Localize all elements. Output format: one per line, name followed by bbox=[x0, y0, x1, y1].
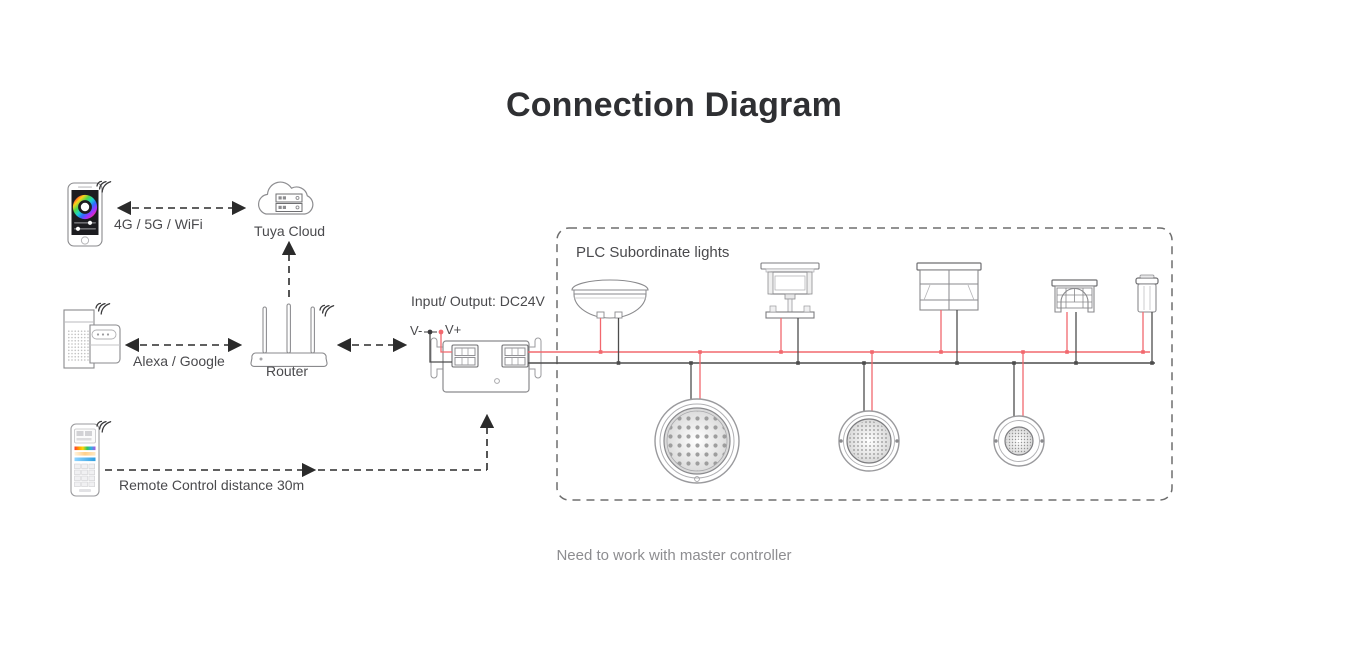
page-title: Connection Diagram bbox=[0, 86, 1348, 125]
cylindrical-spotlight-icon bbox=[1136, 275, 1158, 365]
remote-controller-link bbox=[105, 417, 487, 470]
plc-group-container bbox=[557, 228, 1172, 500]
connectivity-label: 4G / 5G / WiFi bbox=[114, 216, 203, 232]
pool-light-medium-icon bbox=[839, 350, 899, 471]
par56-pool-lamp-icon bbox=[572, 280, 648, 365]
power-spec-label: Input/ Output: DC24V bbox=[411, 293, 545, 309]
footer-note: Need to work with master controller bbox=[0, 547, 1348, 564]
terminal-negative-label: V- bbox=[410, 323, 422, 338]
smart-speaker-icon bbox=[64, 303, 120, 368]
pool-light-small-icon bbox=[994, 350, 1044, 466]
power-bus-lines bbox=[528, 352, 1155, 363]
terminal-positive-label: V+ bbox=[445, 322, 461, 337]
router-label: Router bbox=[266, 363, 308, 379]
cloud-label: Tuya Cloud bbox=[254, 223, 325, 239]
voice-assistant-label: Alexa / Google bbox=[133, 353, 225, 369]
grid-wall-washer-icon bbox=[1052, 280, 1097, 365]
diagram-canvas: Connection Diagram bbox=[0, 0, 1348, 658]
recessed-step-light-icon bbox=[917, 263, 981, 365]
smartphone-icon bbox=[68, 181, 111, 246]
wifi-router-icon bbox=[251, 304, 334, 366]
plc-group-label: PLC Subordinate lights bbox=[576, 244, 729, 261]
tuya-cloud-icon bbox=[259, 182, 313, 214]
pool-light-large-icon bbox=[655, 350, 739, 483]
rf-remote-icon bbox=[71, 421, 111, 496]
inground-uplight-icon bbox=[761, 263, 819, 365]
plc-controller-icon bbox=[431, 338, 541, 392]
remote-distance-label: Remote Control distance 30m bbox=[119, 477, 304, 493]
